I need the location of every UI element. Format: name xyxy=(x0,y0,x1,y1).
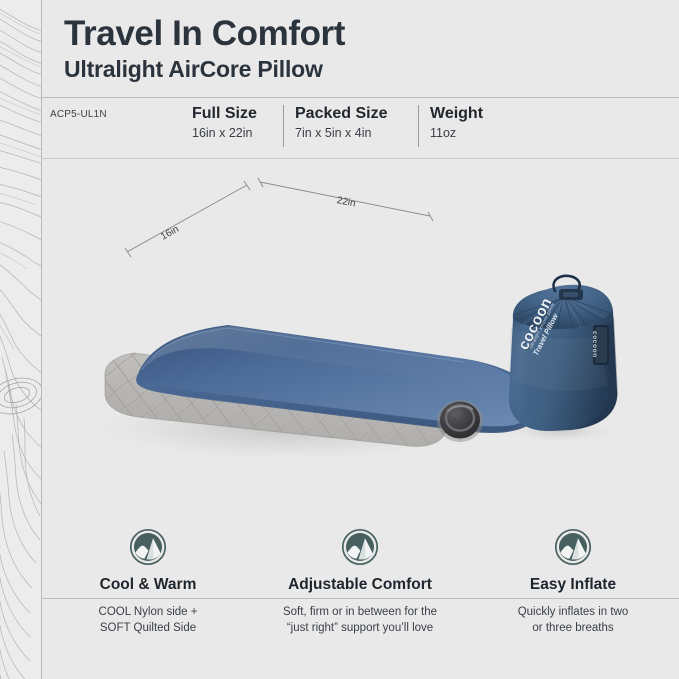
feature-desc-line: COOL Nylon side + xyxy=(42,605,254,621)
feature-divider xyxy=(42,598,679,599)
spec-value: 16in x 22in xyxy=(192,125,257,141)
spec-label: Packed Size xyxy=(295,104,388,124)
page-title: Travel In Comfort xyxy=(64,16,345,51)
mountain-icon xyxy=(129,528,167,566)
spec-label: Full Size xyxy=(192,104,257,124)
feature-desc-line: SOFT Quilted Side xyxy=(42,621,254,637)
feature-easy-inflate: Easy Inflate xyxy=(467,519,679,595)
feature-description: COOL Nylon side + SOFT Quilted Side xyxy=(42,605,254,636)
page-subtitle: Ultralight AirCore Pillow xyxy=(64,58,323,81)
sack-tab-label: cocoon xyxy=(591,331,598,358)
spec-weight: Weight 11oz xyxy=(430,104,483,141)
spec-divider-1 xyxy=(283,105,284,147)
spec-value: 7in x 5in x 4in xyxy=(295,125,388,141)
spec-full-size: Full Size 16in x 22in xyxy=(192,104,257,141)
topographic-pattern-strip xyxy=(0,0,42,679)
spec-divider-2 xyxy=(418,105,419,147)
feature-desc-line: Quickly inflates in two xyxy=(467,605,679,621)
product-infographic: Travel In Comfort Ultralight AirCore Pil… xyxy=(0,0,679,679)
feature-adjustable-comfort: Adjustable Comfort xyxy=(254,519,466,595)
feature-row: Cool & Warm Adjustable Comfort Easy Infl… xyxy=(42,519,679,679)
inflation-valve xyxy=(437,400,483,442)
feature-description: Soft, firm or in between for the “just r… xyxy=(254,605,466,636)
feature-title: Cool & Warm xyxy=(42,576,254,595)
spec-bar: ACP5-UL1N Full Size 16in x 22in Packed S… xyxy=(42,98,679,158)
feature-desc-line: “just right” support you’ll love xyxy=(254,621,466,637)
mountain-icon xyxy=(341,528,379,566)
feature-description: Quickly inflates in two or three breaths xyxy=(467,605,679,636)
spec-label: Weight xyxy=(430,104,483,124)
feature-desc-line: Soft, firm or in between for the xyxy=(254,605,466,621)
feature-cool-warm: Cool & Warm xyxy=(42,519,254,595)
product-illustration: 16in 22in xyxy=(42,159,679,519)
stuff-sack-graphic: cocoon ultralight aircore pillow Travel … xyxy=(497,267,627,442)
feature-title: Easy Inflate xyxy=(467,576,679,595)
mountain-icon xyxy=(554,528,592,566)
feature-title: Adjustable Comfort xyxy=(254,576,466,595)
sku-code: ACP5-UL1N xyxy=(50,109,107,120)
spec-value: 11oz xyxy=(430,125,483,141)
feature-desc-line: or three breaths xyxy=(467,621,679,637)
header: Travel In Comfort Ultralight AirCore Pil… xyxy=(42,0,679,97)
spec-packed-size: Packed Size 7in x 5in x 4in xyxy=(295,104,388,141)
